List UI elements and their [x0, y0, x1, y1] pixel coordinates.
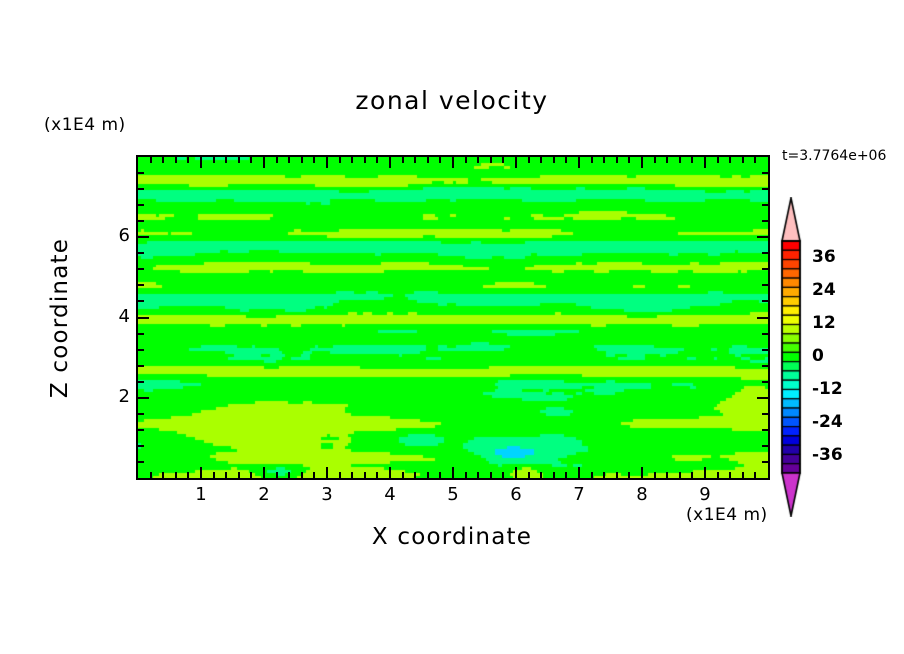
x-tick-top	[729, 157, 731, 163]
x-tick-bottom	[263, 467, 265, 478]
x-tick-bottom	[691, 472, 693, 478]
y-tick-left	[138, 445, 144, 447]
x-tick-bottom	[301, 472, 303, 478]
page-title: zonal velocity	[0, 86, 904, 115]
x-tick-bottom	[276, 472, 278, 478]
x-tick-top	[263, 157, 265, 168]
x-tick-top	[187, 157, 189, 163]
x-tick-bottom	[578, 467, 580, 478]
x-tick-bottom	[402, 472, 404, 478]
x-tick-bottom	[717, 472, 719, 478]
x-tick-top	[553, 157, 555, 163]
y-tick-right	[762, 220, 768, 222]
y-tick-label: 6	[104, 225, 130, 246]
x-tick-top	[364, 157, 366, 163]
y-tick-right	[762, 284, 768, 286]
y-tick-left	[138, 349, 144, 351]
y-tick-right	[757, 397, 768, 399]
y-tick-left	[138, 172, 144, 174]
y-tick-right	[762, 188, 768, 190]
y-tick-right	[762, 204, 768, 206]
x-tick-bottom	[250, 472, 252, 478]
y-tick-left	[138, 429, 144, 431]
x-tick-top	[452, 157, 454, 168]
y-tick-left	[138, 284, 144, 286]
x-tick-top	[213, 157, 215, 163]
x-tick-top	[276, 157, 278, 163]
x-tick-top	[339, 157, 341, 163]
x-tick-bottom	[528, 472, 530, 478]
x-tick-bottom	[565, 472, 567, 478]
x-tick-bottom	[729, 472, 731, 478]
y-tick-right	[762, 365, 768, 367]
x-tick-top	[565, 157, 567, 163]
y-tick-left	[138, 204, 144, 206]
colorbar-tick-label: 0	[812, 346, 824, 366]
colorbar-tick-label: 12	[812, 313, 836, 333]
x-tick-top	[654, 157, 656, 163]
x-tick-top	[250, 157, 252, 163]
x-tick-bottom	[213, 472, 215, 478]
x-tick-bottom	[339, 472, 341, 478]
x-tick-top	[465, 157, 467, 163]
x-tick-bottom	[427, 472, 429, 478]
velocity-field-canvas	[138, 157, 768, 478]
x-tick-bottom	[490, 472, 492, 478]
y-tick-right	[762, 461, 768, 463]
x-tick-top	[754, 157, 756, 163]
colorbar-canvas	[780, 197, 802, 517]
x-tick-bottom	[754, 472, 756, 478]
colorbar	[780, 197, 802, 517]
x-tick-bottom	[477, 472, 479, 478]
x-tick-top	[225, 157, 227, 163]
x-tick-bottom	[225, 472, 227, 478]
y-tick-right	[762, 413, 768, 415]
x-tick-label: 7	[564, 484, 594, 505]
colorbar-tick-label: 24	[812, 280, 836, 300]
y-tick-left	[138, 252, 144, 254]
x-tick-top	[490, 157, 492, 163]
y-tick-right	[757, 236, 768, 238]
colorbar-tick-label: -36	[812, 445, 843, 465]
x-tick-top	[641, 157, 643, 168]
x-tick-bottom	[288, 472, 290, 478]
x-tick-top	[351, 157, 353, 163]
x-tick-label: 8	[627, 484, 657, 505]
x-tick-bottom	[187, 472, 189, 478]
x-tick-label: 3	[312, 484, 342, 505]
x-tick-label: 4	[375, 484, 405, 505]
x-tick-top	[628, 157, 630, 163]
y-tick-left	[138, 236, 149, 238]
x-tick-bottom	[162, 472, 164, 478]
x-tick-top	[402, 157, 404, 163]
x-tick-top	[515, 157, 517, 168]
y-tick-right	[762, 333, 768, 335]
x-tick-label: 2	[249, 484, 279, 505]
y-tick-left	[138, 317, 149, 319]
x-tick-bottom	[666, 472, 668, 478]
colorbar-tick-label: -24	[812, 412, 843, 432]
x-tick-bottom	[376, 472, 378, 478]
x-tick-bottom	[313, 472, 315, 478]
x-tick-top	[427, 157, 429, 163]
y-tick-right	[762, 252, 768, 254]
x-tick-bottom	[742, 472, 744, 478]
x-tick-top	[326, 157, 328, 168]
x-tick-top	[477, 157, 479, 163]
x-tick-bottom	[439, 472, 441, 478]
x-tick-top	[301, 157, 303, 163]
y-tick-left	[138, 333, 144, 335]
y-tick-left	[138, 397, 149, 399]
y-tick-left	[138, 220, 144, 222]
x-tick-top	[200, 157, 202, 168]
x-tick-top	[603, 157, 605, 163]
x-tick-top	[679, 157, 681, 163]
x-tick-bottom	[679, 472, 681, 478]
y-tick-left	[138, 300, 144, 302]
y-tick-right	[762, 429, 768, 431]
y-tick-right	[757, 317, 768, 319]
x-tick-top	[717, 157, 719, 163]
y-tick-right	[762, 172, 768, 174]
x-tick-bottom	[150, 472, 152, 478]
x-tick-bottom	[628, 472, 630, 478]
x-tick-top	[666, 157, 668, 163]
y-tick-left	[138, 413, 144, 415]
x-tick-bottom	[389, 467, 391, 478]
y-tick-right	[762, 268, 768, 270]
x-tick-bottom	[502, 472, 504, 478]
x-tick-top	[704, 157, 706, 168]
x-tick-bottom	[603, 472, 605, 478]
y-tick-left	[138, 461, 144, 463]
x-tick-bottom	[465, 472, 467, 478]
x-tick-top	[389, 157, 391, 168]
x-tick-bottom	[591, 472, 593, 478]
y-tick-left	[138, 268, 144, 270]
x-tick-label: 9	[690, 484, 720, 505]
y-tick-label: 4	[104, 306, 130, 327]
y-tick-right	[762, 300, 768, 302]
x-tick-bottom	[351, 472, 353, 478]
x-tick-top	[376, 157, 378, 163]
x-tick-top	[540, 157, 542, 163]
x-tick-top	[742, 157, 744, 163]
x-tick-top	[162, 157, 164, 163]
x-tick-top	[238, 157, 240, 163]
x-tick-top	[313, 157, 315, 163]
x-tick-bottom	[452, 467, 454, 478]
x-tick-bottom	[641, 467, 643, 478]
y-tick-right	[762, 381, 768, 383]
y-tick-left	[138, 381, 144, 383]
x-tick-top	[288, 157, 290, 163]
y-axis-title: Z coordinate	[47, 218, 73, 418]
x-tick-bottom	[238, 472, 240, 478]
x-tick-top	[528, 157, 530, 163]
x-tick-label: 1	[186, 484, 216, 505]
x-axis-unit-label: (x1E4 m)	[686, 505, 768, 525]
x-tick-bottom	[553, 472, 555, 478]
timestamp-annotation: t=3.7764e+06	[782, 148, 886, 164]
x-tick-bottom	[540, 472, 542, 478]
x-tick-bottom	[414, 472, 416, 478]
x-tick-top	[591, 157, 593, 163]
y-tick-right	[762, 349, 768, 351]
x-tick-top	[150, 157, 152, 163]
x-tick-bottom	[654, 472, 656, 478]
x-tick-top	[175, 157, 177, 163]
x-tick-bottom	[326, 467, 328, 478]
y-tick-left	[138, 188, 144, 190]
contour-plot-area	[136, 155, 770, 480]
y-tick-left	[138, 365, 144, 367]
x-tick-top	[616, 157, 618, 163]
x-tick-top	[502, 157, 504, 163]
y-tick-right	[762, 445, 768, 447]
x-tick-bottom	[200, 467, 202, 478]
y-axis-unit-label: (x1E4 m)	[44, 115, 126, 135]
x-tick-top	[578, 157, 580, 168]
x-tick-top	[414, 157, 416, 163]
x-tick-bottom	[515, 467, 517, 478]
y-tick-label: 2	[104, 386, 130, 407]
x-tick-label: 6	[501, 484, 531, 505]
x-tick-label: 5	[438, 484, 468, 505]
x-tick-top	[691, 157, 693, 163]
colorbar-tick-label: -12	[812, 379, 843, 399]
colorbar-tick-label: 36	[812, 247, 836, 267]
x-tick-bottom	[175, 472, 177, 478]
x-tick-bottom	[364, 472, 366, 478]
x-axis-title: X coordinate	[0, 524, 904, 550]
x-tick-bottom	[616, 472, 618, 478]
x-tick-top	[439, 157, 441, 163]
x-tick-bottom	[704, 467, 706, 478]
